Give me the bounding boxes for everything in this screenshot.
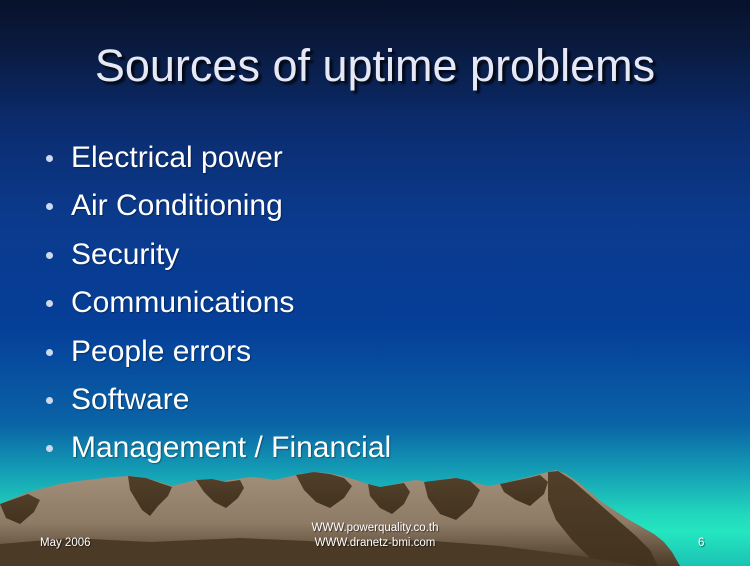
bullet-label: People errors [71,335,251,368]
bullet-label: Security [71,238,179,271]
bullet-dot-icon [46,203,53,210]
presentation-slide: Sources of uptime problems Electrical po… [0,0,750,566]
bullet-item-communications: Communications [40,281,700,329]
bullet-dot-icon [46,300,53,307]
bullet-dot-icon [46,445,53,452]
bullet-label: Communications [71,286,294,319]
bullet-item-electrical-power: Electrical power [40,136,700,184]
bullet-dot-icon [46,155,53,162]
bullet-item-security: Security [40,233,700,281]
bullet-dot-icon [46,252,53,259]
bullet-item-air-conditioning: Air Conditioning [40,184,700,232]
bullet-item-software: Software [40,378,700,426]
footer-url-primary: WWW.powerquality.co.th [0,521,750,536]
bullet-item-people-errors: People errors [40,330,700,378]
bullet-label: Software [71,383,189,416]
bullet-label: Management / Financial [71,431,391,464]
mountain-range-graphic [0,466,750,566]
bullet-label: Electrical power [71,141,283,174]
slide-page-number: 6 [698,537,704,549]
footer-urls: WWW.powerquality.co.th WWW.dranetz-bmi.c… [0,521,750,551]
bullet-dot-icon [46,349,53,356]
bullet-list: Electrical power Air Conditioning Securi… [40,136,700,475]
slide-title: Sources of uptime problems [0,40,750,92]
bullet-dot-icon [46,397,53,404]
footer-url-secondary: WWW.dranetz-bmi.com [0,536,750,551]
bullet-label: Air Conditioning [71,189,283,222]
